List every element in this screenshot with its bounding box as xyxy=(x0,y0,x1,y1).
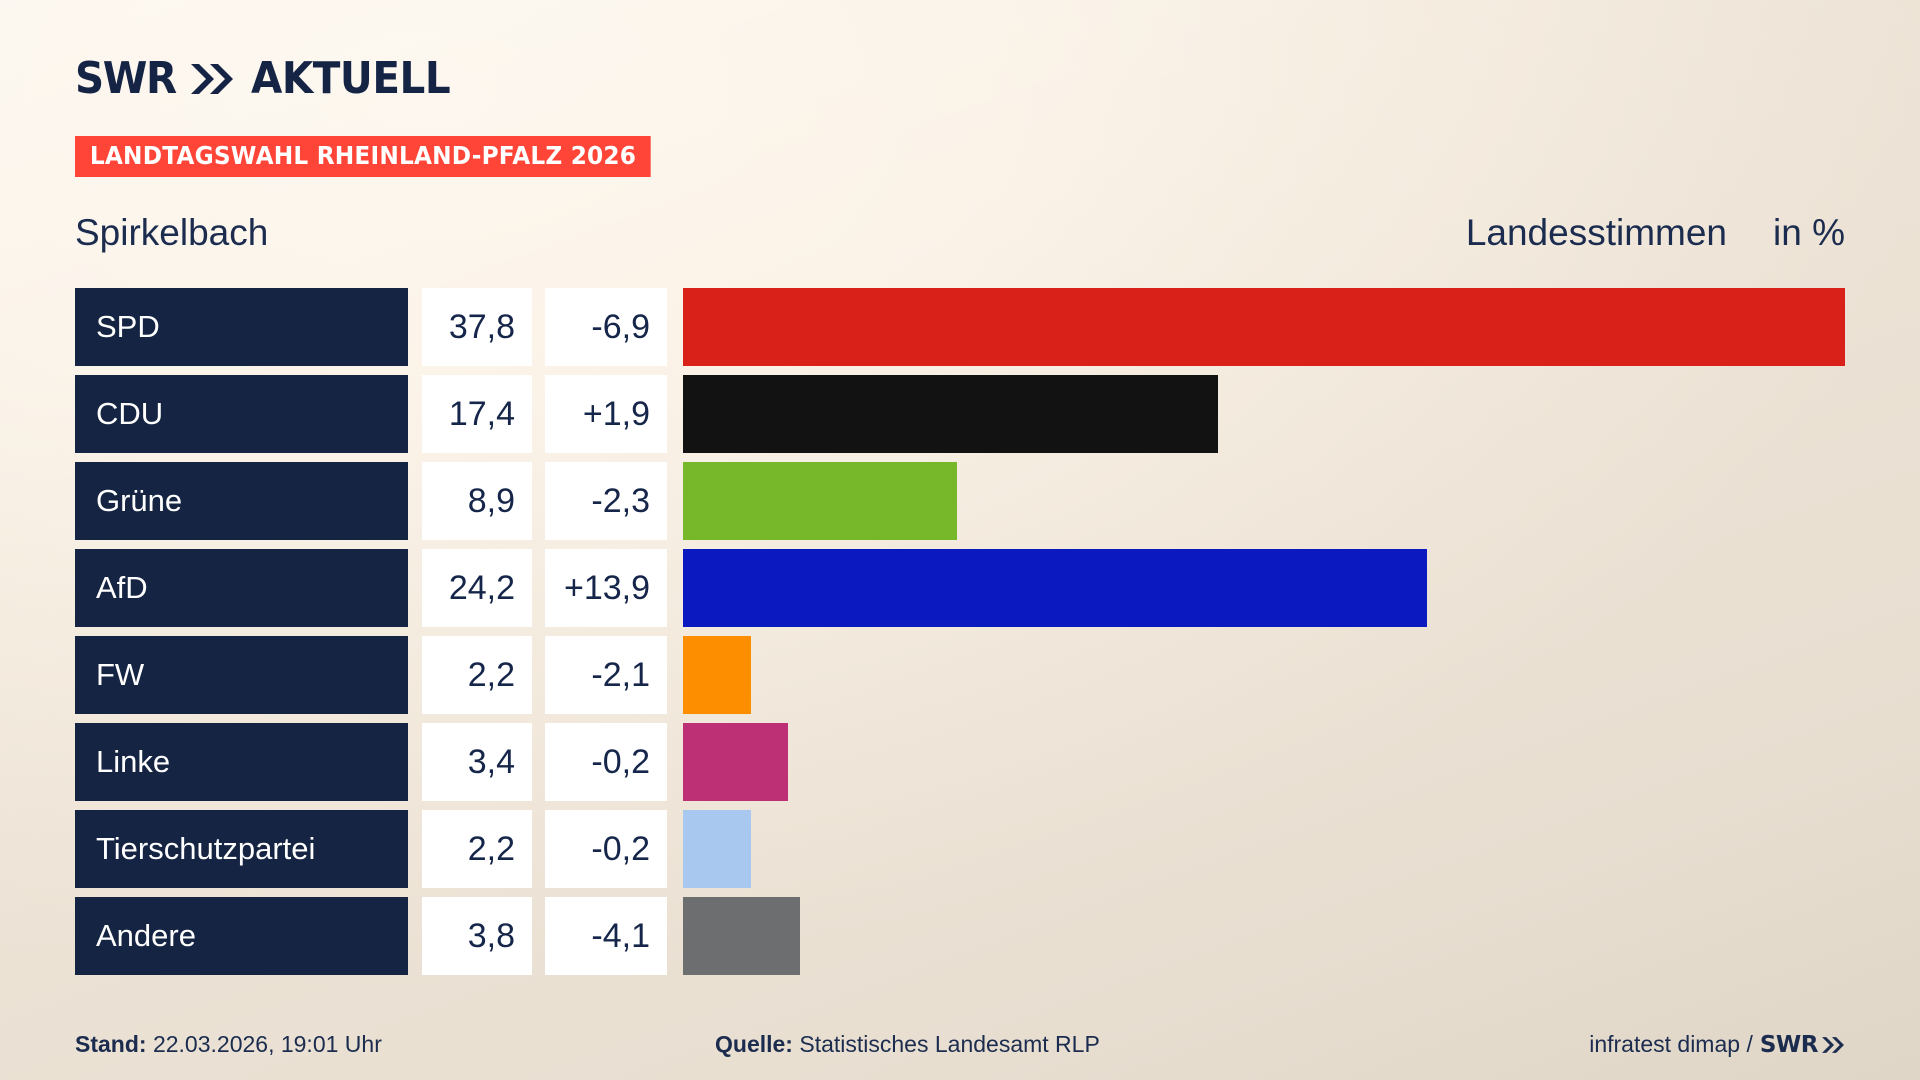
party-result-value: 17,4 xyxy=(422,375,532,453)
result-row: Tierschutzpartei2,2-0,2 xyxy=(75,810,1845,888)
double-chevron-right-icon xyxy=(189,62,235,96)
party-result-change: -2,3 xyxy=(545,462,667,540)
party-name-cell: Tierschutzpartei xyxy=(75,810,408,888)
credit-swr-text: SWR xyxy=(1760,1032,1818,1058)
result-bar xyxy=(683,549,1427,627)
swr-aktuell-logo: SWR AKTUELL xyxy=(75,57,467,101)
bar-track xyxy=(683,549,1845,627)
bar-track xyxy=(683,636,1845,714)
party-result-value: 2,2 xyxy=(422,810,532,888)
credit-institute: infratest dimap / xyxy=(1589,1031,1753,1058)
result-bar xyxy=(683,462,957,540)
result-row: SPD37,8-6,9 xyxy=(75,288,1845,366)
party-name-cell: FW xyxy=(75,636,408,714)
footer-credit: infratest dimap / SWR xyxy=(1589,1031,1845,1058)
result-bar xyxy=(683,897,800,975)
footer: Stand: 22.03.2026, 19:01 Uhr Quelle: Sta… xyxy=(75,1031,1845,1058)
double-chevron-right-icon xyxy=(1821,1036,1845,1054)
footer-quelle: Quelle: Statistisches Landesamt RLP xyxy=(715,1031,1589,1058)
party-name-cell: Linke xyxy=(75,723,408,801)
bar-track xyxy=(683,723,1845,801)
vote-type-label: Landesstimmen xyxy=(1466,212,1727,254)
result-row: CDU17,4+1,9 xyxy=(75,375,1845,453)
unit-label: in % xyxy=(1773,212,1845,254)
result-row: FW2,2-2,1 xyxy=(75,636,1845,714)
party-result-value: 2,2 xyxy=(422,636,532,714)
party-result-value: 8,9 xyxy=(422,462,532,540)
logo-swr-text: SWR xyxy=(75,57,176,101)
footer-stand: Stand: 22.03.2026, 19:01 Uhr xyxy=(75,1031,715,1058)
bar-track xyxy=(683,810,1845,888)
party-result-change: -0,2 xyxy=(545,723,667,801)
election-badge-row: LANDTAGSWAHL RHEINLAND-PFALZ 2026 xyxy=(75,136,1845,176)
vote-type-group: Landesstimmen in % xyxy=(1466,212,1845,254)
result-bar xyxy=(683,723,788,801)
result-bar xyxy=(683,288,1845,366)
quelle-label: Quelle: xyxy=(715,1031,793,1057)
party-name-cell: SPD xyxy=(75,288,408,366)
quelle-value: Statistisches Landesamt RLP xyxy=(799,1031,1099,1057)
result-bar xyxy=(683,810,751,888)
stand-label: Stand: xyxy=(75,1031,147,1057)
party-result-value: 3,4 xyxy=(422,723,532,801)
party-name-cell: Andere xyxy=(75,897,408,975)
party-result-change: -4,1 xyxy=(545,897,667,975)
result-bar xyxy=(683,375,1218,453)
party-result-value: 3,8 xyxy=(422,897,532,975)
bar-track xyxy=(683,462,1845,540)
brand-header: SWR AKTUELL xyxy=(75,0,1845,110)
infographic-stage: SWR AKTUELL LANDTAGSWAHL RHEINLAND-PFALZ… xyxy=(0,0,1920,1080)
party-result-change: -6,9 xyxy=(545,288,667,366)
party-result-change: -2,1 xyxy=(545,636,667,714)
party-name-cell: CDU xyxy=(75,375,408,453)
result-row: Andere3,8-4,1 xyxy=(75,897,1845,975)
subtitle-row: Spirkelbach Landesstimmen in % xyxy=(75,202,1845,264)
result-row: AfD24,2+13,9 xyxy=(75,549,1845,627)
bar-track xyxy=(683,288,1845,366)
logo-aktuell-text: AKTUELL xyxy=(251,57,450,101)
party-result-change: -0,2 xyxy=(545,810,667,888)
party-name-cell: Grüne xyxy=(75,462,408,540)
bar-track xyxy=(683,897,1845,975)
results-chart: SPD37,8-6,9CDU17,4+1,9Grüne8,9-2,3AfD24,… xyxy=(75,288,1845,975)
result-row: Linke3,4-0,2 xyxy=(75,723,1845,801)
result-row: Grüne8,9-2,3 xyxy=(75,462,1845,540)
bar-track xyxy=(683,375,1845,453)
party-result-value: 24,2 xyxy=(422,549,532,627)
result-bar xyxy=(683,636,751,714)
party-result-value: 37,8 xyxy=(422,288,532,366)
election-title-badge: LANDTAGSWAHL RHEINLAND-PFALZ 2026 xyxy=(75,136,651,177)
stand-value: 22.03.2026, 19:01 Uhr xyxy=(153,1031,382,1057)
party-result-change: +13,9 xyxy=(545,549,667,627)
region-name: Spirkelbach xyxy=(75,212,268,254)
content-area: SWR AKTUELL LANDTAGSWAHL RHEINLAND-PFALZ… xyxy=(0,0,1920,975)
party-result-change: +1,9 xyxy=(545,375,667,453)
party-name-cell: AfD xyxy=(75,549,408,627)
